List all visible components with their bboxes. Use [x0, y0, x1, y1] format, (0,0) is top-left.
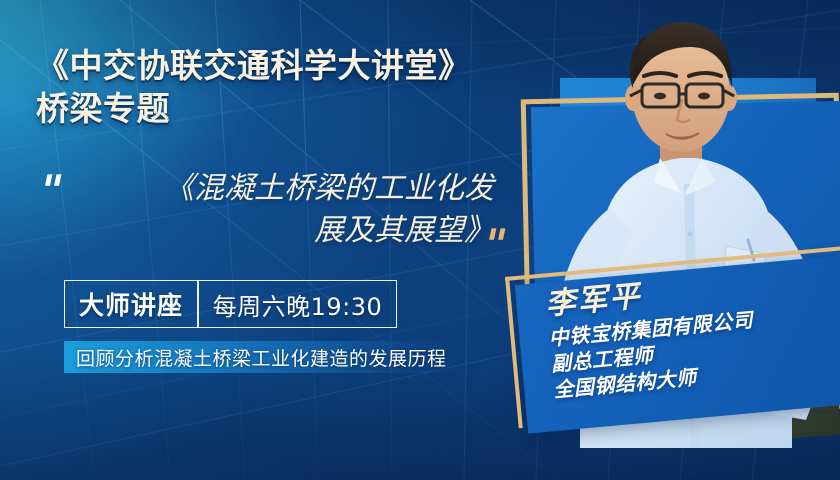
strapline-text: 回顾分析混凝土桥梁工业化建造的发展历程 [76, 344, 447, 371]
quote-line-2: 展及其展望》 [36, 210, 516, 252]
lecture-poster: 《中交协联交通科学大讲堂》 桥梁专题 " " 《混凝土桥梁的工业化发 展及其展望… [0, 0, 840, 480]
schedule-bar: 大师讲座 每周六晚19:30 [64, 280, 397, 328]
title-line-1: 《中交协联交通科学大讲堂》 [36, 46, 472, 86]
schedule-label: 大师讲座 [65, 281, 197, 327]
title-line-2: 桥梁专题 [36, 89, 472, 129]
speaker-plate: 李军平 中铁宝桥集团有限公司 副总工程师 全国钢结构大师 [505, 245, 840, 428]
quote-line-1: 《混凝土桥梁的工业化发 [36, 168, 516, 210]
schedule-time: 每周六晚19:30 [199, 281, 397, 327]
lecture-quote: " " 《混凝土桥梁的工业化发 展及其展望》 [36, 168, 516, 252]
page-title: 《中交协联交通科学大讲堂》 桥梁专题 [36, 46, 472, 129]
speaker-info: 李军平 中铁宝桥集团有限公司 副总工程师 全国钢结构大师 [544, 269, 759, 403]
strapline-bar: 回顾分析混凝土桥梁工业化建造的发展历程 [64, 341, 464, 373]
